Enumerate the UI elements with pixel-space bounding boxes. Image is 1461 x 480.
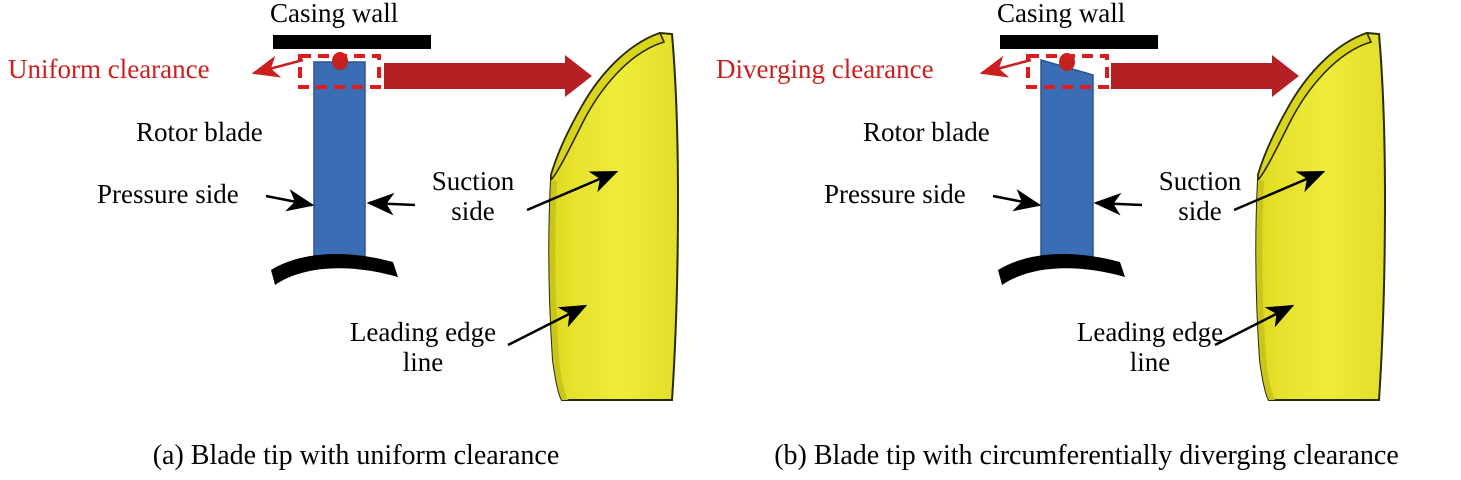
rotor-blade-section	[1041, 60, 1093, 265]
leading-edge-line-1: Leading edge	[350, 317, 496, 347]
flow-arrow-red	[384, 55, 592, 97]
leading-edge-line-2: line	[1130, 347, 1171, 377]
hub-arc	[998, 254, 1125, 285]
figure-blade-tip-clearance: Casing wall Uniform clearance Rotor blad…	[0, 0, 1461, 480]
pressure-side-leader	[993, 196, 1039, 205]
leading-edge-line-label: Leading edge line	[330, 317, 516, 377]
suction-side-label: Suction side	[1145, 166, 1255, 226]
suction-side-label: Suction side	[418, 166, 528, 226]
hub-arc	[271, 254, 398, 285]
casing-wall-label: Casing wall	[270, 0, 398, 28]
leading-edge-line-2: line	[403, 347, 444, 377]
suction-side-leader	[1096, 203, 1142, 205]
pressure-side-leader	[266, 196, 312, 205]
suction-side-line-1: Suction	[1159, 166, 1242, 196]
clearance-leader-line	[254, 60, 303, 73]
suction-side-leader	[369, 203, 415, 205]
pressure-side-label: Pressure side	[97, 179, 239, 209]
suction-side-line-2: side	[451, 196, 495, 226]
casing-wall-bar	[1000, 35, 1158, 49]
leading-edge-line-label: Leading edge line	[1057, 317, 1243, 377]
leading-edge-line-1: Leading edge	[1077, 317, 1223, 347]
clearance-leader-line	[982, 60, 1031, 73]
panel-a-uniform-clearance: Casing wall Uniform clearance Rotor blad…	[0, 0, 712, 480]
rotor-blade-label: Rotor blade	[136, 117, 263, 147]
diverging-clearance-label: Diverging clearance	[716, 54, 934, 84]
rotor-blade-section	[314, 62, 365, 265]
suction-side-line-1: Suction	[432, 166, 515, 196]
caption-panel-a: (a) Blade tip with uniform clearance	[0, 440, 712, 472]
flow-arrow-red	[1111, 55, 1299, 97]
casing-wall-label: Casing wall	[997, 0, 1125, 28]
casing-wall-bar	[273, 35, 431, 49]
pressure-side-label: Pressure side	[824, 179, 966, 209]
caption-panel-b: (b) Blade tip with circumferentially div…	[712, 440, 1461, 472]
uniform-clearance-label: Uniform clearance	[8, 54, 210, 84]
rotor-blade-label: Rotor blade	[863, 117, 990, 147]
suction-side-line-2: side	[1178, 196, 1222, 226]
panel-b-diverging-clearance: Casing wall Diverging clearance Rotor bl…	[712, 0, 1461, 480]
